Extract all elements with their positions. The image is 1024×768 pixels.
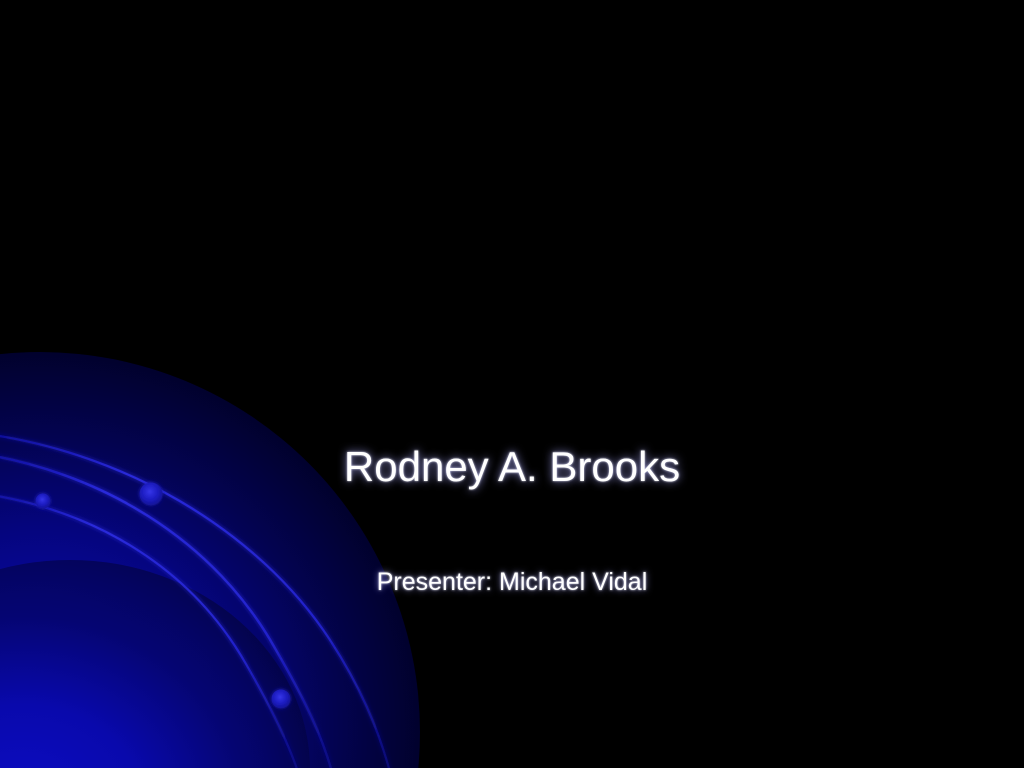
orbit-dot [272,690,291,709]
slide-title: A Robust Layered Control System for a Mo… [62,258,962,432]
presentation-slide: A Robust Layered Control System for a Mo… [0,0,1024,768]
slide-title-line-1: A Robust Layered Control [62,258,962,345]
slide-title-line-2: System for a Mobile Robot [62,345,962,432]
slide-presenter: Presenter: Michael Vidal [62,566,962,598]
slide-author: Rodney A. Brooks [62,440,962,494]
orbit-dot [36,494,51,509]
